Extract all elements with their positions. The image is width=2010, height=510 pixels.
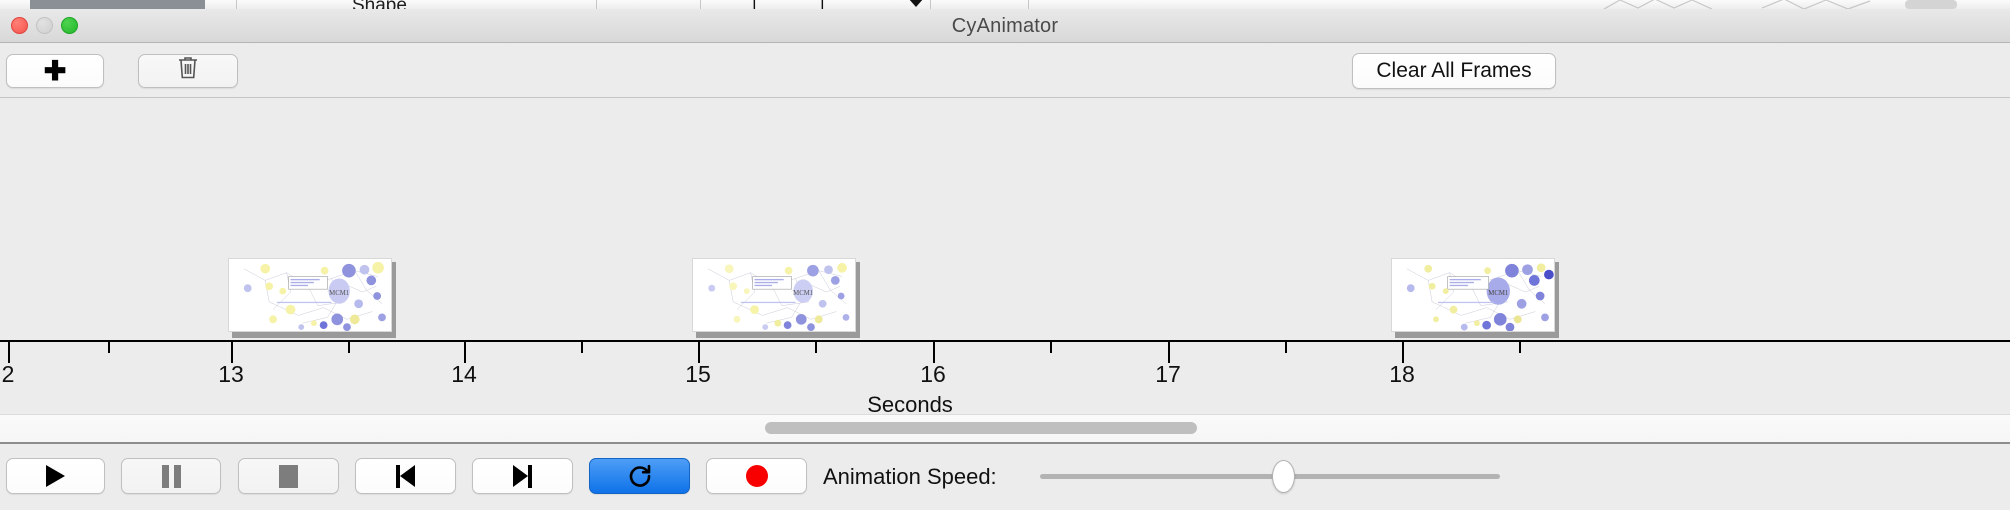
parent-scrollbar[interactable]: [1905, 0, 1957, 9]
svg-text:MCM1: MCM1: [329, 290, 349, 297]
add-frame-button[interactable]: ✚: [6, 54, 104, 88]
parent-arrow-icon: [908, 0, 924, 7]
axis-tick-minor: [581, 342, 583, 353]
slider-track[interactable]: [1040, 474, 1500, 479]
axis-tick-major: [231, 342, 233, 363]
frames-layer: MCM1: [0, 98, 2010, 338]
axis-tick-major: [464, 342, 466, 363]
loop-icon: [627, 463, 653, 489]
frame-thumbnail: MCM1: [1391, 258, 1555, 332]
animation-speed-slider[interactable]: [1040, 474, 1500, 479]
axis-tick-minor: [108, 342, 110, 353]
record-icon: [746, 465, 768, 487]
svg-text:MCM1: MCM1: [793, 290, 813, 297]
scrollbar-thumb[interactable]: [765, 422, 1197, 434]
pause-button[interactable]: [121, 458, 221, 494]
stop-icon: [279, 465, 298, 488]
stop-button[interactable]: [238, 458, 339, 494]
axis-tick-label: 17: [1155, 361, 1181, 388]
axis-tick-major: [1402, 342, 1404, 363]
window-title: CyAnimator: [0, 15, 2010, 38]
slider-thumb[interactable]: [1272, 460, 1295, 493]
axis-tick-minor: [348, 342, 350, 353]
axis-tick-major: [933, 342, 935, 363]
play-icon: [46, 465, 65, 487]
timeline-panel[interactable]: MCM1: [0, 98, 2010, 414]
axis-tick-major: [698, 342, 700, 363]
timeline-frame[interactable]: MCM1: [692, 258, 860, 336]
axis-tick-major: [8, 342, 10, 363]
clear-all-frames-button[interactable]: Clear All Frames: [1352, 53, 1556, 89]
axis-tick-label: 18: [1389, 361, 1415, 388]
axis-tick-minor: [1285, 342, 1287, 353]
trash-icon: [176, 55, 200, 87]
frame-thumbnail: MCM1: [692, 258, 856, 332]
play-button[interactable]: [6, 458, 105, 494]
axis-tick-label: 14: [451, 361, 477, 388]
cyanimator-window: CyAnimator ✚ Clear All Frames: [0, 9, 2010, 510]
animation-speed-label: Animation Speed:: [823, 464, 997, 490]
pause-icon: [162, 465, 181, 488]
timeline-frame[interactable]: MCM1: [1391, 258, 1559, 336]
axis-tick-label: 16: [920, 361, 946, 388]
delete-frame-button[interactable]: [138, 54, 238, 88]
axis-tick-label: 2: [2, 361, 15, 388]
frame-thumbnail: MCM1: [228, 258, 392, 332]
timeline-scrollbar[interactable]: [0, 414, 2010, 444]
skip-to-start-button[interactable]: [355, 458, 456, 494]
axis-tick-minor: [1519, 342, 1521, 353]
axis-tick-minor: [815, 342, 817, 353]
skip-start-icon: [396, 465, 415, 488]
axis-title-text: Seconds: [867, 392, 953, 414]
timeline-frame[interactable]: MCM1: [228, 258, 396, 336]
axis-title: Seconds: [0, 392, 2010, 414]
loop-button[interactable]: [589, 458, 690, 494]
title-bar: CyAnimator: [0, 9, 2010, 43]
toolbar: ✚ Clear All Frames: [0, 43, 2010, 98]
axis-tick-label: 13: [218, 361, 244, 388]
skip-to-end-button[interactable]: [472, 458, 573, 494]
svg-text:MCM1: MCM1: [1488, 290, 1508, 297]
axis-tick-major: [1168, 342, 1170, 363]
plus-icon: ✚: [44, 58, 67, 85]
axis-tick-minor: [1050, 342, 1052, 353]
axis-tick-label: 15: [685, 361, 711, 388]
playback-bar: Animation Speed:: [0, 444, 2010, 509]
record-button[interactable]: [706, 458, 807, 494]
timeline-axis-line: [0, 340, 2010, 342]
skip-end-icon: [513, 465, 532, 488]
